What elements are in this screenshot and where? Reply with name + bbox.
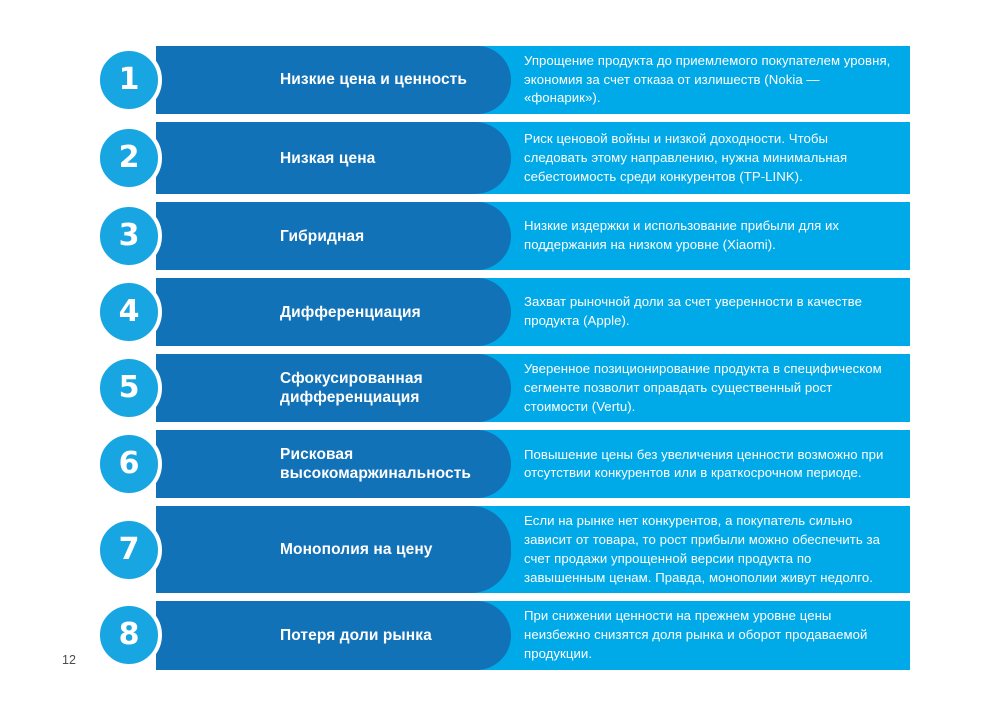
title-pill[interactable]: Дифференциация (156, 278, 511, 346)
description-band: Низкие издержки и использование прибыли … (156, 202, 910, 270)
description-band: Упрощение продукта до приемлемого покупа… (156, 46, 910, 114)
title-pill[interactable]: Потеря доли рынка (156, 601, 511, 669)
description-band: Уверенное позиционирование продукта в сп… (156, 354, 910, 422)
number-badge[interactable]: 3 (96, 203, 162, 269)
page-number: 12 (62, 653, 76, 667)
description-text: Повышение цены без увеличения ценности в… (524, 440, 910, 489)
list-item[interactable]: Если на рынке нет конкурентов, а покупат… (96, 506, 910, 593)
list-item[interactable]: Повышение цены без увеличения ценности в… (96, 430, 910, 498)
list-item[interactable]: Упрощение продукта до приемлемого покупа… (96, 46, 910, 114)
number-badge[interactable]: 4 (96, 279, 162, 345)
description-text: Если на рынке нет конкурентов, а покупат… (524, 506, 910, 593)
title-pill[interactable]: Сфокусированная дифференциация (156, 354, 511, 422)
title-text: Низкие цена и ценность (156, 70, 481, 89)
number-badge[interactable]: 7 (96, 517, 162, 583)
number-text: 4 (119, 297, 140, 327)
number-text: 3 (119, 221, 140, 251)
title-pill[interactable]: Низкие цена и ценность (156, 46, 511, 114)
number-badge[interactable]: 5 (96, 355, 162, 421)
strategy-list: Упрощение продукта до приемлемого покупа… (96, 46, 910, 678)
number-text: 2 (119, 143, 140, 173)
number-badge[interactable]: 2 (96, 125, 162, 191)
title-text: Гибридная (156, 227, 378, 246)
description-band: Повышение цены без увеличения ценности в… (156, 430, 910, 498)
slide-canvas: Упрощение продукта до приемлемого покупа… (0, 0, 1000, 720)
number-text: 1 (119, 65, 140, 95)
list-item[interactable]: При снижении ценности на прежнем уровне … (96, 601, 910, 669)
title-pill[interactable]: Монополия на цену (156, 506, 511, 593)
description-band: Риск ценовой войны и низкой доходности. … (156, 122, 910, 194)
title-pill[interactable]: Рисковая высокомаржинальность (156, 430, 511, 498)
title-pill[interactable]: Гибридная (156, 202, 511, 270)
title-text: Потеря доли рынка (156, 626, 446, 645)
title-text: Низкая цена (156, 149, 389, 168)
title-pill[interactable]: Низкая цена (156, 122, 511, 194)
description-text: Низкие издержки и использование прибыли … (524, 211, 910, 260)
description-band: Захват рыночной доли за счет уверенности… (156, 278, 910, 346)
number-text: 6 (119, 449, 140, 479)
number-text: 5 (119, 373, 140, 403)
number-badge[interactable]: 8 (96, 602, 162, 668)
description-band: При снижении ценности на прежнем уровне … (156, 601, 910, 669)
number-badge[interactable]: 1 (96, 47, 162, 113)
list-item[interactable]: Риск ценовой войны и низкой доходности. … (96, 122, 910, 194)
description-text: Захват рыночной доли за счет уверенности… (524, 287, 910, 336)
title-text: Монополия на цену (156, 540, 447, 559)
description-text: При снижении ценности на прежнем уровне … (524, 601, 910, 669)
description-text: Уверенное позиционирование продукта в сп… (524, 354, 910, 422)
list-item[interactable]: Захват рыночной доли за счет уверенности… (96, 278, 910, 346)
number-text: 7 (119, 535, 140, 565)
description-text: Риск ценовой войны и низкой доходности. … (524, 124, 910, 192)
description-band: Если на рынке нет конкурентов, а покупат… (156, 506, 910, 593)
title-text: Рисковая высокомаржинальность (156, 445, 511, 484)
list-item[interactable]: Уверенное позиционирование продукта в сп… (96, 354, 910, 422)
number-badge[interactable]: 6 (96, 431, 162, 497)
title-text: Сфокусированная дифференциация (156, 369, 511, 408)
title-text: Дифференциация (156, 303, 435, 322)
list-item[interactable]: Низкие издержки и использование прибыли … (96, 202, 910, 270)
description-text: Упрощение продукта до приемлемого покупа… (524, 46, 910, 114)
number-text: 8 (119, 620, 140, 650)
